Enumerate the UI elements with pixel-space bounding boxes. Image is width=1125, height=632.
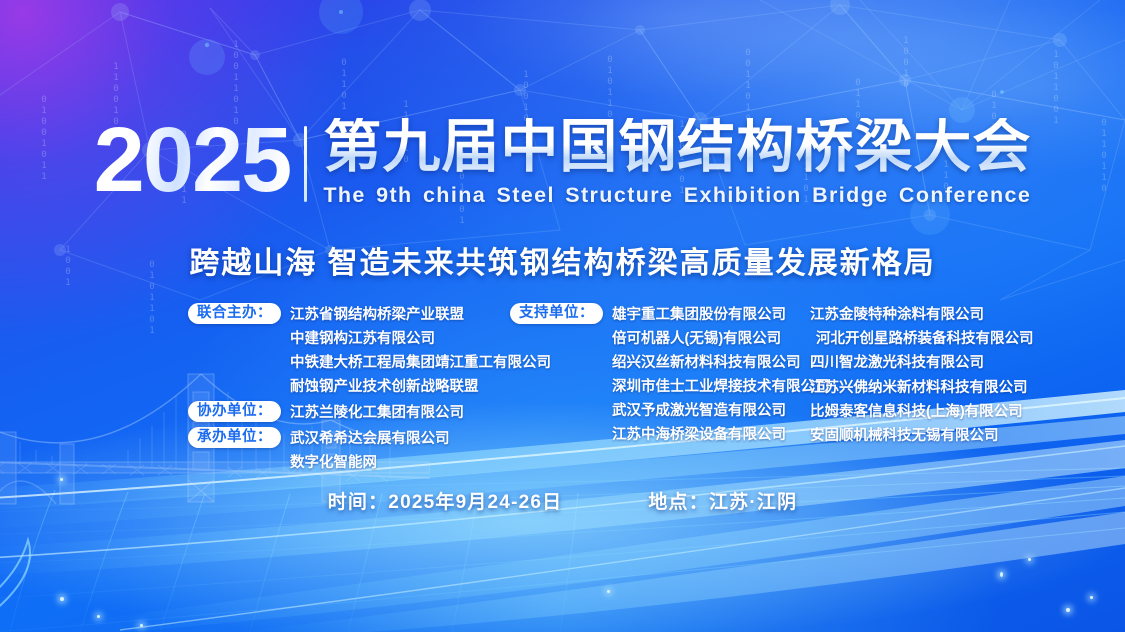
- co-host-label: 联合主办：: [188, 303, 281, 324]
- organizers-column-left: 联合主办： 江苏省钢结构桥梁产业联盟 中建钢构江苏有限公司 中铁建大桥工程局集团…: [188, 303, 510, 477]
- co-organizer-group: 协办单位： 江苏兰陵化工集团有限公司: [188, 401, 510, 425]
- list-item: 河北开创星路桥装备科技有限公司: [810, 327, 1065, 351]
- page-subtitle-english: The 9th china Steel Structure Exhibition…: [323, 183, 1031, 208]
- list-item: 比姆泰客信息科技(上海)有限公司: [810, 400, 1065, 424]
- organizers-section: 联合主办： 江苏省钢结构桥梁产业联盟 中建钢构江苏有限公司 中铁建大桥工程局集团…: [188, 303, 1068, 477]
- event-date: 时间：2025年9月24-26日: [328, 487, 563, 514]
- page-title: 第九届中国钢结构桥梁大会: [323, 118, 1031, 176]
- list-item: 武汉希希达会展有限公司: [290, 427, 450, 451]
- list-item: 江苏兰陵化工集团有限公司: [290, 401, 464, 425]
- list-item: 江苏中海桥梁设备有限公司: [612, 423, 830, 447]
- undertaker-label: 承办单位：: [188, 427, 281, 448]
- supporters-group: 支持单位： 雄宇重工集团股份有限公司 倍可机器人(无锡)有限公司 绍兴汉丝新材料…: [510, 303, 810, 447]
- list-item: 雄宇重工集团股份有限公司: [612, 303, 830, 327]
- list-item: 四川智龙激光科技有限公司: [810, 351, 1065, 375]
- list-item: 江苏兴佛纳米新材料科技有限公司: [810, 376, 1065, 400]
- list-item: 绍兴汉丝新材料科技有限公司: [612, 351, 830, 375]
- list-item: 江苏金陵特种涂料有限公司: [810, 303, 1065, 327]
- year-2025: 2025: [94, 118, 305, 203]
- undertaker-group: 承办单位： 武汉希希达会展有限公司 数字化智能网: [188, 427, 510, 475]
- list-item: 安固顺机械科技无锡有限公司: [810, 424, 1065, 448]
- co-organizer-label: 协办单位：: [188, 401, 281, 422]
- title-row: 2025 第九届中国钢结构桥梁大会 The 9th china Steel St…: [0, 118, 1125, 208]
- list-item: 深圳市佳士工业焊接技术有限公司: [612, 375, 830, 399]
- organizers-column-middle: 支持单位： 雄宇重工集团股份有限公司 倍可机器人(无锡)有限公司 绍兴汉丝新材料…: [510, 303, 810, 477]
- event-meta: 时间：2025年9月24-26日 地点：江苏·江阴: [0, 487, 1125, 514]
- co-host-group: 联合主办： 江苏省钢结构桥梁产业联盟 中建钢构江苏有限公司 中铁建大桥工程局集团…: [188, 303, 510, 399]
- event-location: 地点：江苏·江阴: [648, 487, 797, 514]
- list-item: 武汉予成激光智造有限公司: [612, 399, 830, 423]
- supporters-label: 支持单位：: [510, 303, 603, 324]
- organizers-column-right: 江苏金陵特种涂料有限公司 河北开创星路桥装备科技有限公司 四川智龙激光科技有限公…: [810, 303, 1065, 477]
- conference-banner: 01001011 1100101 0110011 10011010 01101 …: [0, 0, 1125, 632]
- list-item: 倍可机器人(无锡)有限公司: [612, 327, 830, 351]
- conference-slogan: 跨越山海 智造未来共筑钢结构桥梁高质量发展新格局: [0, 238, 1125, 282]
- list-item: 数字化智能网: [290, 451, 450, 475]
